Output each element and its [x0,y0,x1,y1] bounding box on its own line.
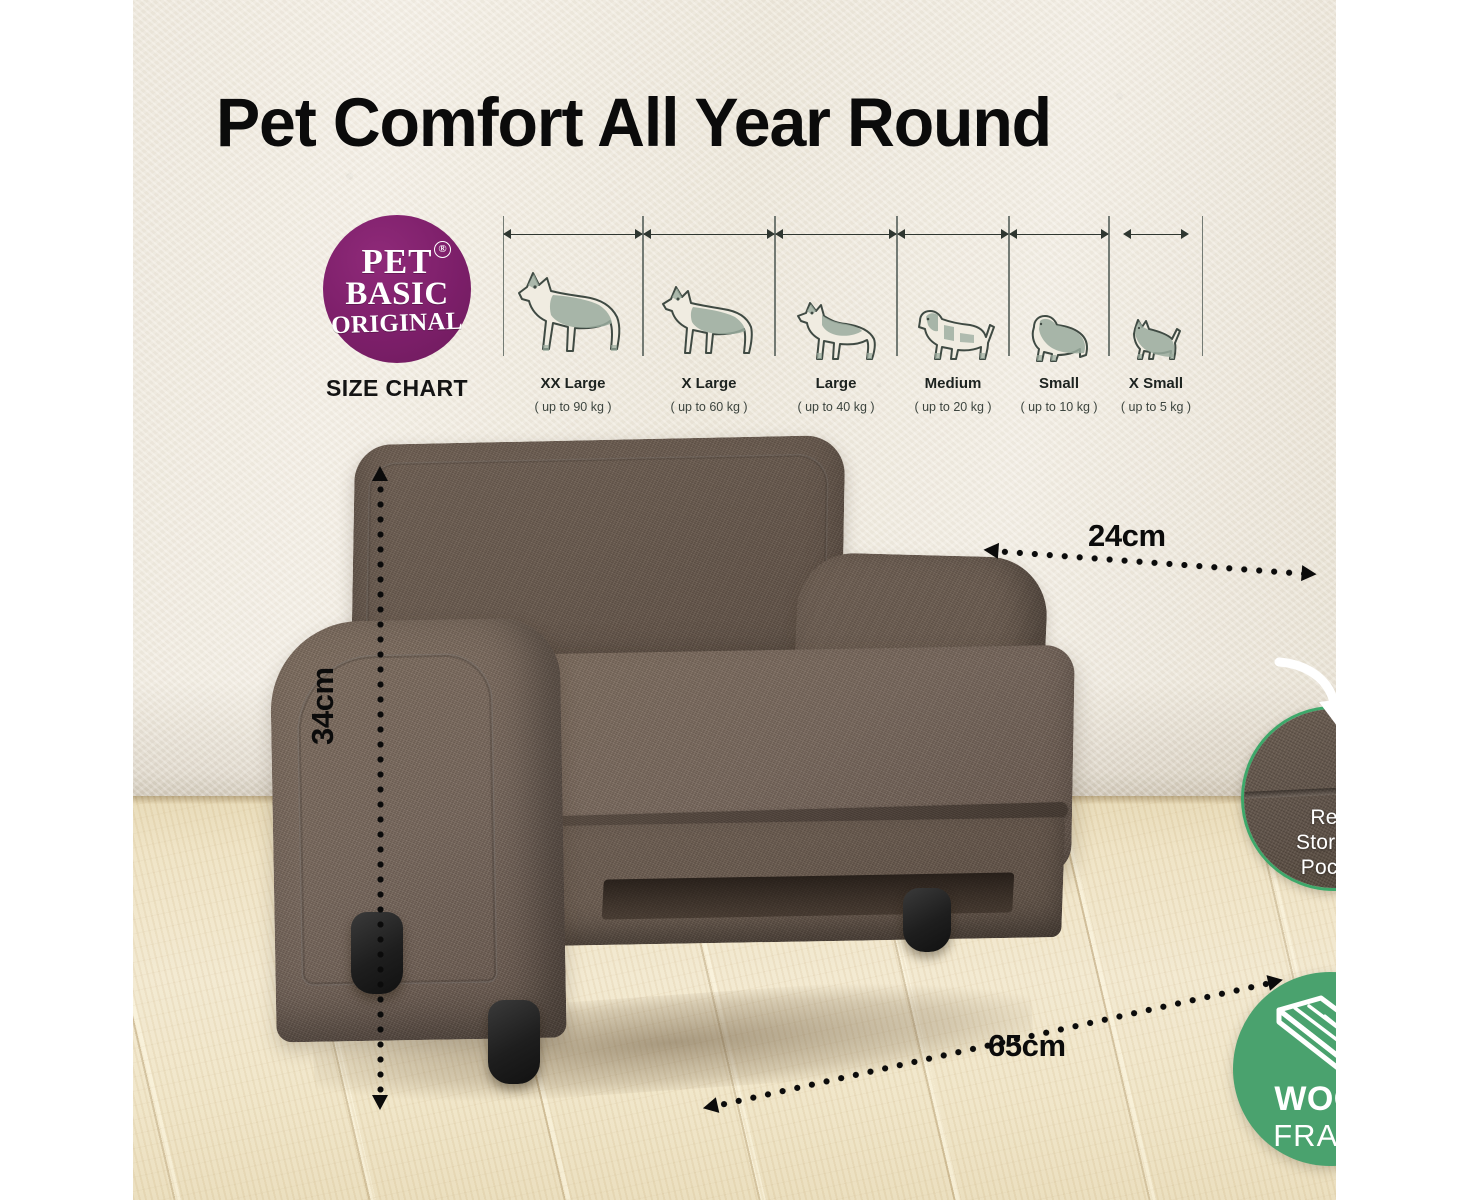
product-photo: Pet Comfort All Year Round PET BASIC ORI… [133,0,1336,1200]
page-headline: Pet Comfort All Year Round [216,88,1272,157]
arrow-head-bottom [372,1095,388,1110]
measure-arrow-right [889,229,897,239]
measure-span [504,234,642,235]
sofa-base-shadow-gap [602,872,1015,919]
size-label: Medium [897,375,1009,392]
size-label: Large [775,375,897,392]
sofa-foot [903,888,951,952]
measure-arrow-left [897,229,905,239]
measure-line-right [1202,216,1203,356]
measure-arrow-left [503,229,511,239]
measure-span [644,234,774,235]
size-column-x-small: X Small ( up to 5 kg ) [1109,216,1203,416]
pocket-pointer-arrow-icon [1271,652,1336,748]
pet-sofa-product [273,440,1083,1110]
size-weight: ( up to 10 kg ) [1009,400,1109,414]
measure-arrow-right [767,229,775,239]
size-column-small: Small ( up to 10 kg ) [1009,216,1109,416]
dog-size-chart: XX Large ( up to 90 kg ) X Large [503,216,1203,416]
measure-arrow-right [1001,229,1009,239]
dog-silhouette-x-small [1125,307,1187,370]
dotted-line [377,482,384,1094]
wood-plank-icon [1273,994,1336,1082]
measure-arrow-left [1123,229,1131,239]
brand-disc: PET BASIC ORIGINAL ® [323,215,471,363]
size-weight: ( up to 40 kg ) [775,400,897,414]
size-column-xx-large: XX Large ( up to 90 kg ) [503,216,643,416]
dimension-label-height: 34cm [305,667,341,745]
pocket-caption: Rear Storage Pocket [1244,805,1336,880]
wood-badge-line2: FRAME [1233,1118,1336,1154]
size-label: X Large [643,375,775,392]
measure-span [1125,234,1187,235]
measure-span [776,234,896,235]
measure-span [1010,234,1108,235]
size-column-large: Large ( up to 40 kg ) [775,216,897,416]
size-weight: ( up to 90 kg ) [503,400,643,414]
size-weight: ( up to 20 kg ) [897,400,1009,414]
measure-arrow-left [643,229,651,239]
dog-silhouette-x-large [655,273,763,370]
dimension-label-width: 65cm [988,1028,1066,1064]
measure-arrow-left [1009,229,1017,239]
dimension-arrow-height [376,468,385,1108]
dog-silhouette-large [788,283,884,370]
arrow-head-top [372,466,388,481]
pocket-caption-line3: Pocket [1244,855,1336,880]
measure-arrow-right [635,229,643,239]
measure-arrow-right [1181,229,1189,239]
size-label: Small [1009,375,1109,392]
brand-logo: PET BASIC ORIGINAL ® SIZE CHART [311,215,483,402]
size-label: XX Large [503,375,643,392]
size-label: X Small [1109,375,1203,392]
size-chart-caption: SIZE CHART [311,375,483,402]
dog-silhouette-small [1022,299,1096,370]
measure-arrow-left [775,229,783,239]
measure-line-left [1109,216,1110,356]
registered-trademark-icon: ® [434,241,451,258]
dimension-label-depth: 24cm [1088,518,1166,554]
wood-badge-line1: WOOD [1233,1080,1336,1119]
dog-silhouette-medium [910,291,996,370]
measure-arrow-right [1101,229,1109,239]
pocket-caption-line1: Rear [1244,805,1336,830]
sofa-foot [488,1000,540,1084]
brand-line-original: ORIGINAL [323,307,472,340]
arrow-head-right [1301,565,1317,582]
measure-span [898,234,1008,235]
size-column-medium: Medium ( up to 20 kg ) [897,216,1009,416]
size-weight: ( up to 60 kg ) [643,400,775,414]
dog-silhouette-xx-large [513,265,633,370]
size-column-x-large: X Large ( up to 60 kg ) [643,216,775,416]
pocket-caption-line2: Storage [1244,830,1336,855]
size-weight: ( up to 5 kg ) [1109,400,1203,414]
